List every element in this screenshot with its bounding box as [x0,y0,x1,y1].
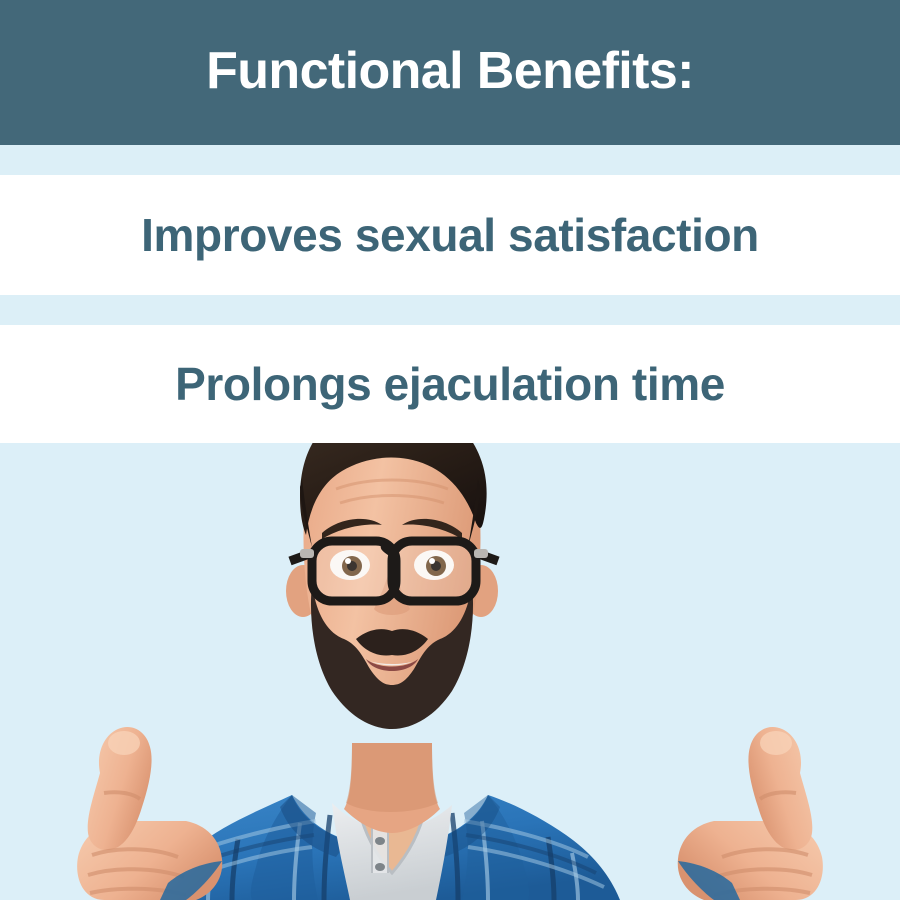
tint-stripe-1 [0,145,900,175]
hero-photo [0,443,900,900]
header-band: Functional Benefits: [0,0,900,145]
glasses-icon [290,541,498,601]
promo-card: Functional Benefits: Improves sexual sat… [0,0,900,900]
benefit-label-1: Improves sexual satisfaction [141,212,759,258]
man-thumbs-up-illustration [0,443,900,900]
page-title: Functional Benefits: [206,45,694,97]
benefit-label-2: Prolongs ejaculation time [175,361,725,407]
tint-stripe-2 [0,295,900,325]
benefit-row-2: Prolongs ejaculation time [0,325,900,443]
benefit-row-1: Improves sexual satisfaction [0,175,900,295]
